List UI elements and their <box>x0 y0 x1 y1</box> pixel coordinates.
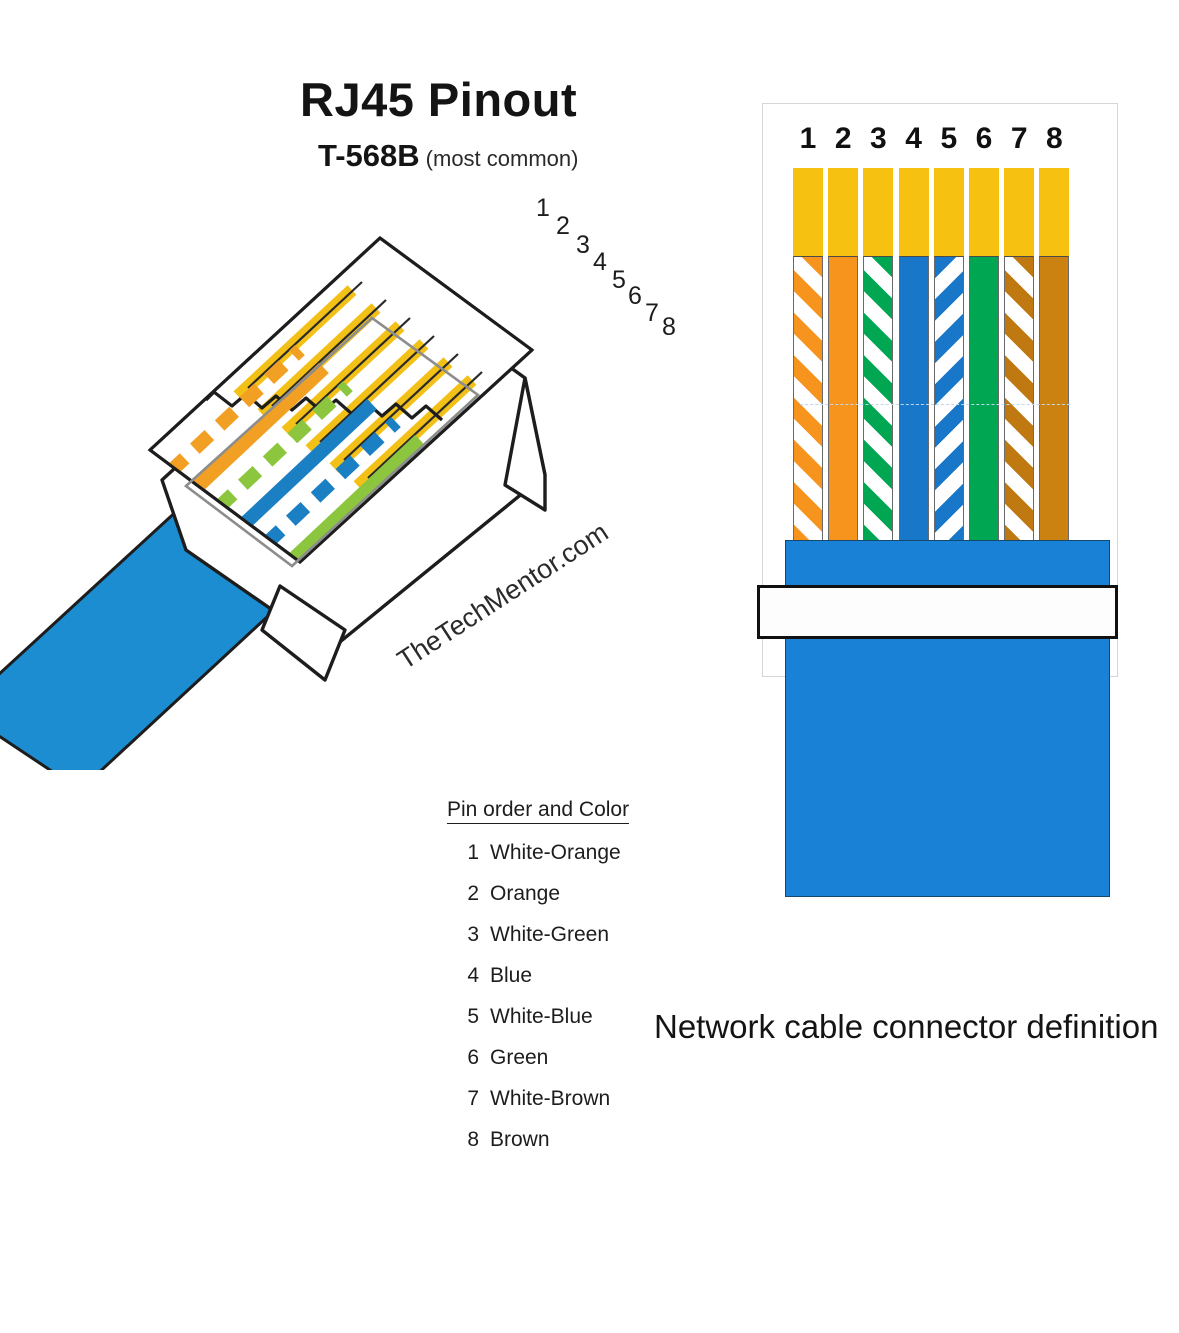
front-pin-number-8: 8 <box>1037 122 1071 156</box>
wire-pin-7-white-brown <box>1004 256 1034 546</box>
wire-pin-4-blue <box>899 256 929 546</box>
front-pin-number-5: 5 <box>932 122 966 156</box>
legend-pin-color-label: White-Brown <box>490 1087 610 1111</box>
legend-pin-number: 6 <box>447 1046 479 1070</box>
legend-pin-color-label: White-Blue <box>490 1005 593 1029</box>
plug-pin-number-5: 5 <box>612 266 626 295</box>
contact-pin-2 <box>828 168 858 256</box>
jacket-edge-dashed-line <box>800 404 1070 405</box>
contact-pin-7 <box>1004 168 1034 256</box>
standard-note: (most common) <box>426 146 579 171</box>
standard-subtitle: T-568B(most common) <box>318 138 578 174</box>
legend-pin-color-label: Brown <box>490 1128 550 1152</box>
rj45-plug-illustration <box>0 150 720 770</box>
plug-pin-number-6: 6 <box>628 282 642 311</box>
front-pin-number-3: 3 <box>861 122 895 156</box>
plug-pin-number-4: 4 <box>593 248 607 277</box>
contact-pin-8 <box>1039 168 1069 256</box>
front-pin-number-2: 2 <box>826 122 860 156</box>
pin-order-legend: Pin order and Color 1White-Orange2Orange… <box>447 798 629 1169</box>
wire-pin-5-white-blue <box>934 256 964 546</box>
standard-name: T-568B <box>318 138 420 173</box>
diagram-canvas: 1 2 3 4 5 6 7 8 RJ45 Pinout T-568B(most … <box>0 0 1179 1333</box>
legend-pin-number: 8 <box>447 1128 479 1152</box>
plug-pin-number-1: 1 <box>536 194 550 223</box>
front-pin-number-row: 12345678 <box>762 122 1118 164</box>
legend-pin-color-label: White-Green <box>490 923 609 947</box>
legend-pin-number: 4 <box>447 964 479 988</box>
plug-pin-number-3: 3 <box>576 231 590 260</box>
legend-row: 8Brown <box>447 1128 629 1152</box>
front-pin-number-7: 7 <box>1002 122 1036 156</box>
contact-pin-4 <box>899 168 929 256</box>
front-pin-number-1: 1 <box>791 122 825 156</box>
page-title: RJ45 Pinout <box>300 72 577 127</box>
legend-pin-number: 5 <box>447 1005 479 1029</box>
front-pin-number-4: 4 <box>897 122 931 156</box>
legend-pin-number: 7 <box>447 1087 479 1111</box>
wire-pin-8-brown <box>1039 256 1069 546</box>
legend-pin-color-label: Green <box>490 1046 548 1070</box>
legend-row: 5White-Blue <box>447 1005 629 1029</box>
legend-pin-color-label: White-Orange <box>490 841 621 865</box>
legend-pin-number: 3 <box>447 923 479 947</box>
legend-pin-color-label: Orange <box>490 882 560 906</box>
wire-pin-6-green <box>969 256 999 546</box>
wire-pin-1-white-orange <box>793 256 823 546</box>
wire-pin-2-orange <box>828 256 858 546</box>
legend-row: 3White-Green <box>447 923 629 947</box>
contact-pin-5 <box>934 168 964 256</box>
plug-pin-number-2: 2 <box>556 212 570 241</box>
legend-row: 2Orange <box>447 882 629 906</box>
legend-title: Pin order and Color <box>447 798 629 824</box>
plug-pin-number-7: 7 <box>645 299 659 328</box>
legend-pin-number: 2 <box>447 882 479 906</box>
legend-pin-color-label: Blue <box>490 964 532 988</box>
contact-pin-6 <box>969 168 999 256</box>
legend-row: 6Green <box>447 1046 629 1070</box>
legend-pin-number: 1 <box>447 841 479 865</box>
legend-row: 4Blue <box>447 964 629 988</box>
diagram-caption: Network cable connector definition <box>654 1008 1158 1046</box>
wire-pin-3-white-green <box>863 256 893 546</box>
connector-white-band <box>757 585 1118 639</box>
contact-pin-1 <box>793 168 823 256</box>
legend-row: 1White-Orange <box>447 841 629 865</box>
legend-rows: 1White-Orange2Orange3White-Green4Blue5Wh… <box>447 841 629 1152</box>
front-pin-number-6: 6 <box>967 122 1001 156</box>
plug-pin-number-8: 8 <box>662 313 676 342</box>
contact-pin-3 <box>863 168 893 256</box>
legend-row: 7White-Brown <box>447 1087 629 1111</box>
